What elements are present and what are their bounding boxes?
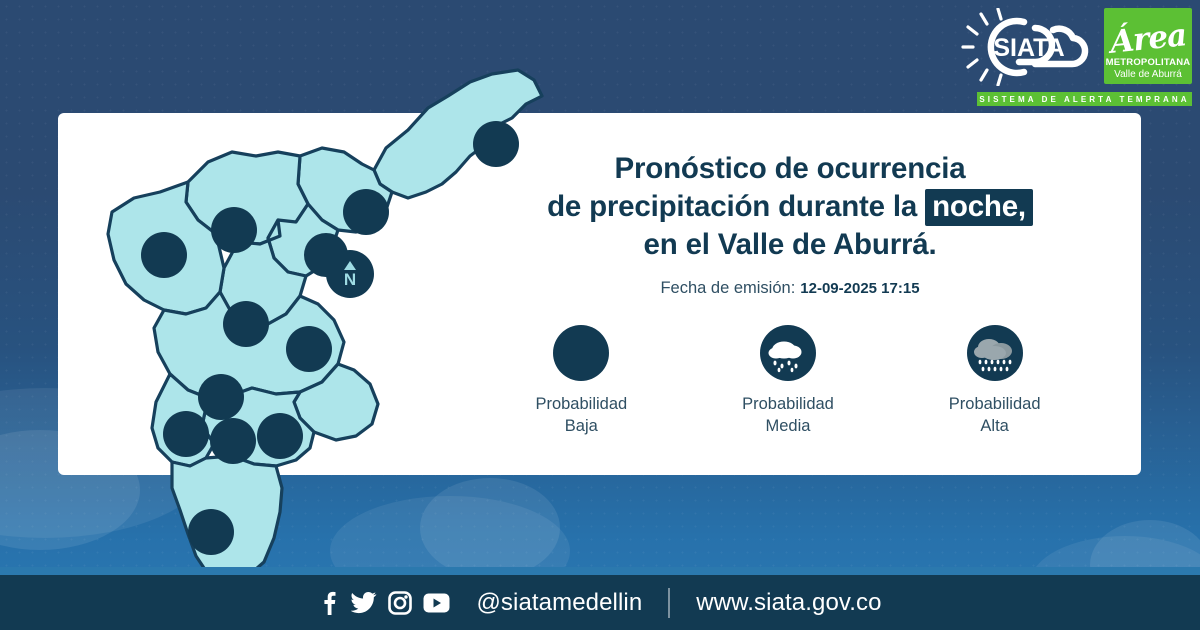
legend-item-media: Probabilidad Media	[703, 325, 873, 438]
map-marker-envigado	[210, 418, 256, 464]
map-marker-itagui	[163, 411, 209, 457]
legend-label-alta: Probabilidad Alta	[949, 393, 1041, 438]
youtube-icon[interactable]	[423, 593, 450, 613]
siata-logo-mark: SIATA	[961, 8, 1096, 86]
cloud-heavy-rain-icon	[967, 325, 1023, 381]
legend-alta-line1: Probabilidad	[949, 393, 1041, 415]
legend-alta-line2: Alta	[949, 415, 1041, 437]
map-marker-san-pedro	[211, 207, 257, 253]
legend-item-baja: Probabilidad Baja	[496, 325, 666, 438]
legend-label-media: Probabilidad Media	[742, 393, 834, 438]
area-script-text: Área	[1108, 20, 1187, 59]
tagline-bar: SISTEMA DE ALERTA TEMPRANA	[977, 92, 1192, 106]
siata-logo: SIATA	[961, 8, 1096, 86]
legend-media-line1: Probabilidad	[742, 393, 834, 415]
moon-icon	[553, 325, 609, 381]
map-marker-bello	[223, 301, 269, 347]
headline-line-3: en el Valle de Aburrá.	[470, 226, 1110, 264]
legend-media-line2: Media	[742, 415, 834, 437]
siata-wordmark: SIATA	[993, 34, 1064, 62]
logo-group: SIATA Área METROPOLITANA Valle de Aburrá	[961, 8, 1192, 86]
map-marker-san-jeronimo	[141, 232, 187, 278]
website-url[interactable]: www.siata.gov.co	[696, 589, 881, 617]
valle-de-aburra-map: N	[56, 52, 556, 572]
municipality-caldas	[172, 456, 282, 572]
headline-line-1: Pronóstico de ocurrencia	[470, 150, 1110, 188]
area-metropolitana-logo: Área METROPOLITANA Valle de Aburrá	[1104, 8, 1192, 84]
headline-panel: Pronóstico de ocurrencia de precipitació…	[470, 150, 1110, 298]
compass-rose: N	[326, 250, 374, 298]
legend-baja-line1: Probabilidad	[535, 393, 627, 415]
cloud-moon-rain-icon	[760, 325, 816, 381]
compass-north-arrow-icon	[344, 261, 356, 270]
emission-label: Fecha de emisión:	[660, 279, 795, 297]
headline-line-2-text: de precipitación durante la	[547, 190, 917, 223]
footer-accent-bar	[0, 567, 1200, 575]
facebook-icon[interactable]	[318, 590, 340, 616]
headline-highlight: noche,	[925, 189, 1033, 226]
legend-baja-line2: Baja	[535, 415, 627, 437]
tagline-text: SISTEMA DE ALERTA TEMPRANA	[979, 95, 1189, 104]
emission-datetime: 12-09-2025 17:15	[800, 280, 919, 297]
map-marker-medellin-centro	[198, 374, 244, 420]
area-line2: Valle de Aburrá	[1114, 69, 1182, 81]
map-marker-caldas	[188, 509, 234, 555]
footer: @siatamedellin www.siata.gov.co	[0, 575, 1200, 630]
headline-line-2: de precipitación durante la noche,	[470, 188, 1110, 226]
map-marker-medellin-norte	[286, 326, 332, 372]
page-title: Pronóstico de ocurrencia de precipitació…	[470, 150, 1110, 263]
compass-north-label: N	[344, 271, 356, 288]
social-handle[interactable]: @siatamedellin	[476, 589, 642, 617]
infographic-canvas: SIATA Área METROPOLITANA Valle de Aburrá…	[0, 0, 1200, 630]
legend-item-alta: Probabilidad Alta	[910, 325, 1080, 438]
map-marker-sabaneta	[257, 413, 303, 459]
instagram-icon[interactable]	[388, 591, 412, 615]
emission-date: Fecha de emisión:12-09-2025 17:15	[470, 279, 1110, 298]
probability-legend: Probabilidad Baja	[478, 325, 1098, 438]
legend-label-baja: Probabilidad Baja	[535, 393, 627, 438]
twitter-icon[interactable]	[351, 591, 377, 615]
footer-divider	[668, 588, 670, 618]
social-icons	[318, 590, 450, 616]
map-marker-girardota	[343, 189, 389, 235]
